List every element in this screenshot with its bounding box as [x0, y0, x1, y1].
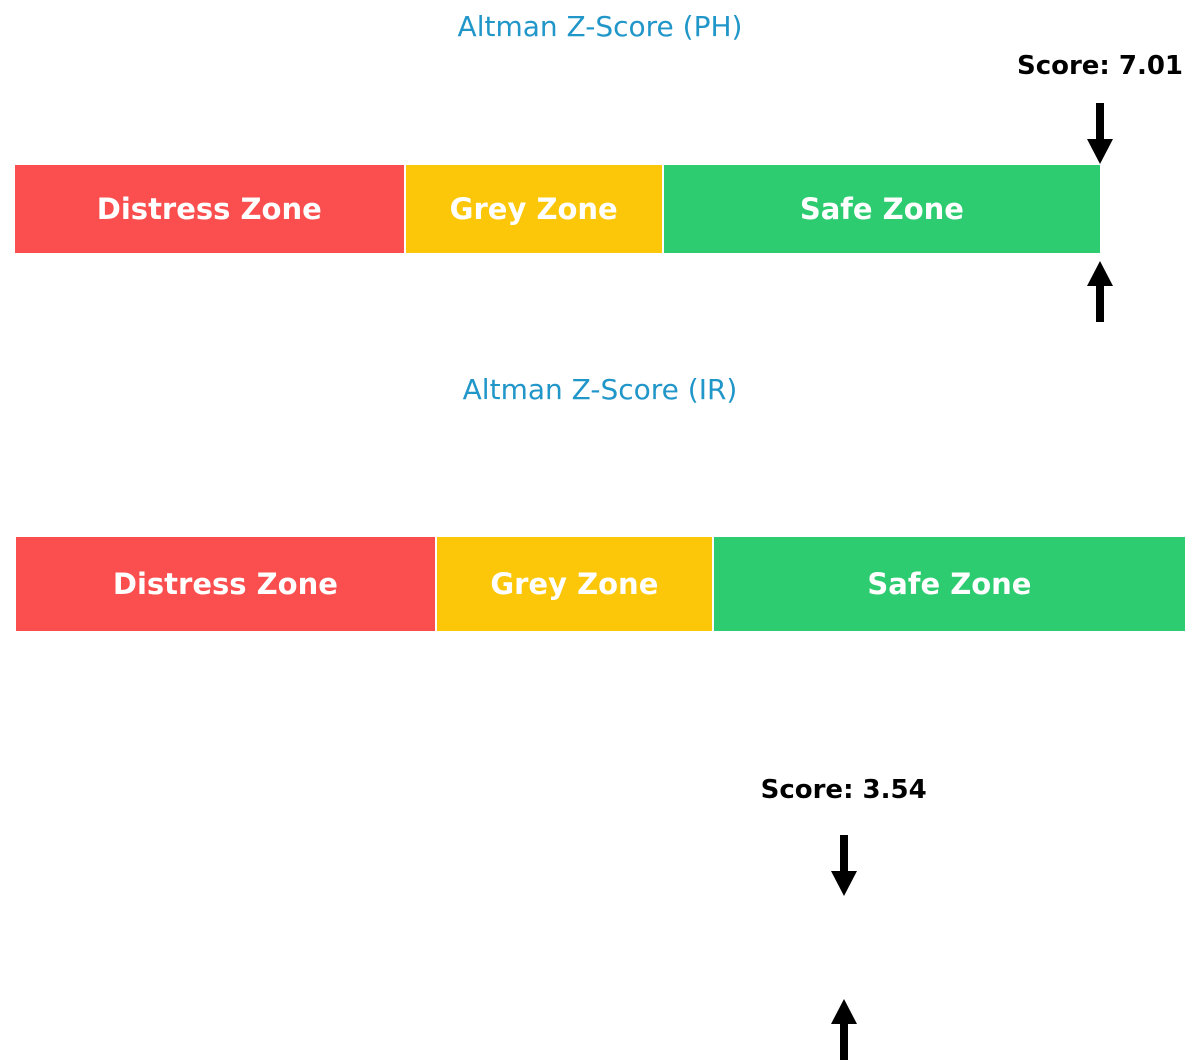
zone-segment-safe-ph: Safe Zone — [664, 165, 1100, 253]
zone-bar-ph: Distress Zone Grey Zone Safe Zone — [15, 165, 1100, 253]
score-marker-arrow-up-ir — [830, 998, 858, 1060]
score-label-ph: Score: 7.01 — [1017, 51, 1183, 81]
zone-label-safe-ph: Safe Zone — [800, 195, 964, 224]
altman-zscore-ph-chart: Altman Z-Score (PH) Score: 7.01 Distress… — [0, 0, 1200, 340]
score-marker-arrow-down-ph — [1086, 103, 1114, 165]
zone-bar-ir: Distress Zone Grey Zone Safe Zone — [16, 537, 1185, 631]
zone-segment-distress-ir: Distress Zone — [16, 537, 435, 631]
zone-label-distress-ph: Distress Zone — [97, 195, 322, 224]
zone-label-distress-ir: Distress Zone — [113, 570, 338, 599]
zone-segment-distress-ph: Distress Zone — [15, 165, 404, 253]
zone-label-safe-ir: Safe Zone — [867, 570, 1031, 599]
score-marker-arrow-down-ir — [830, 835, 858, 897]
altman-zscore-ir-chart: Altman Z-Score (IR) Score: 3.54 Distress… — [0, 360, 1200, 746]
zone-segment-grey-ph: Grey Zone — [406, 165, 662, 253]
chart-title-ir: Altman Z-Score (IR) — [0, 373, 1200, 406]
zone-segment-safe-ir: Safe Zone — [714, 537, 1185, 631]
score-label-ir: Score: 3.54 — [761, 775, 927, 805]
chart-title-ph: Altman Z-Score (PH) — [0, 10, 1200, 43]
zone-label-grey-ir: Grey Zone — [490, 570, 658, 599]
score-marker-arrow-up-ph — [1086, 260, 1114, 322]
zone-segment-grey-ir: Grey Zone — [437, 537, 712, 631]
zone-label-grey-ph: Grey Zone — [450, 195, 618, 224]
